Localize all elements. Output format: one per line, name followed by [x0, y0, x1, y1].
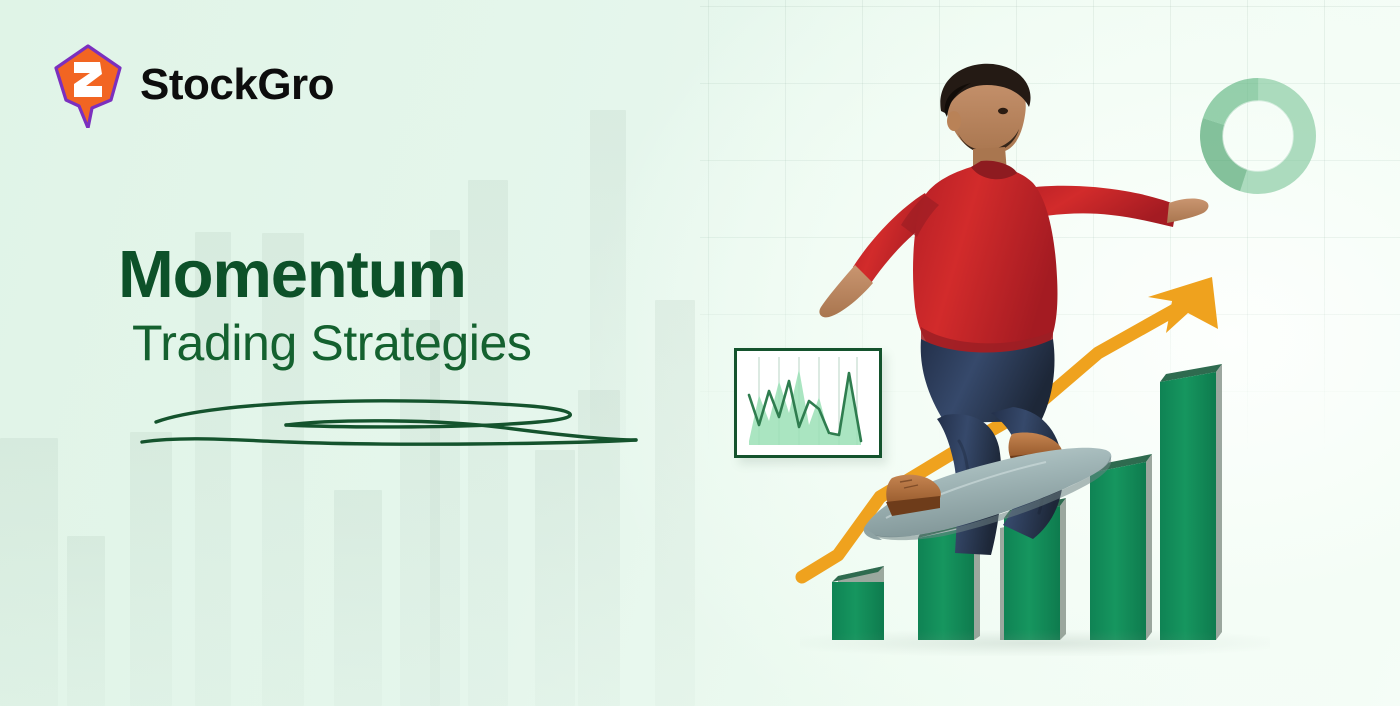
- stockgro-bolt-badge-icon: [48, 42, 128, 128]
- headline-block: Momentum Trading Strategies: [118, 240, 718, 371]
- torso-red-sweater: [901, 161, 1057, 366]
- stockgro-banner: StockGro Momentum Trading Strategies: [0, 0, 1400, 706]
- headline-line-2: Trading Strategies: [132, 316, 718, 371]
- donut-chart-icon: [1200, 78, 1316, 194]
- hand-drawn-swoosh-underline-icon: [138, 388, 658, 462]
- head: [940, 64, 1030, 175]
- surfboard: [860, 430, 1120, 560]
- headline-line-1: Momentum: [118, 240, 718, 310]
- brand-wordmark: StockGro: [140, 63, 334, 107]
- brand-logo[interactable]: StockGro: [48, 42, 334, 128]
